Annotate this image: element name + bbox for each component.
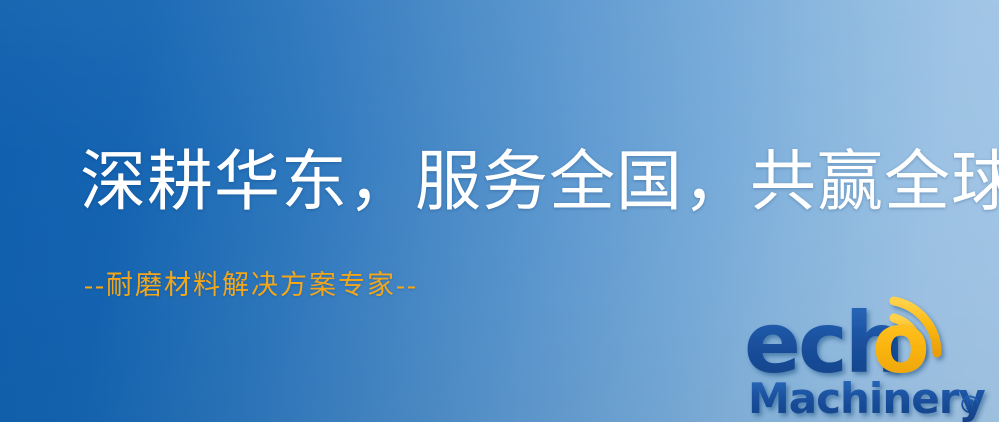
echo-machinery-logo[interactable]: ech o Machinery ® bbox=[744, 296, 999, 422]
banner-headline: 深耕华东，服务全国，共赢全球 bbox=[80, 146, 999, 220]
hero-banner: 深耕华东，服务全国，共赢全球 --耐磨材料解决方案专家-- bbox=[0, 0, 999, 422]
logo-trademark-symbol: ® bbox=[958, 391, 982, 419]
banner-subtitle: --耐磨材料解决方案专家-- bbox=[84, 263, 418, 302]
logo-tagline: Machinery bbox=[748, 374, 985, 422]
